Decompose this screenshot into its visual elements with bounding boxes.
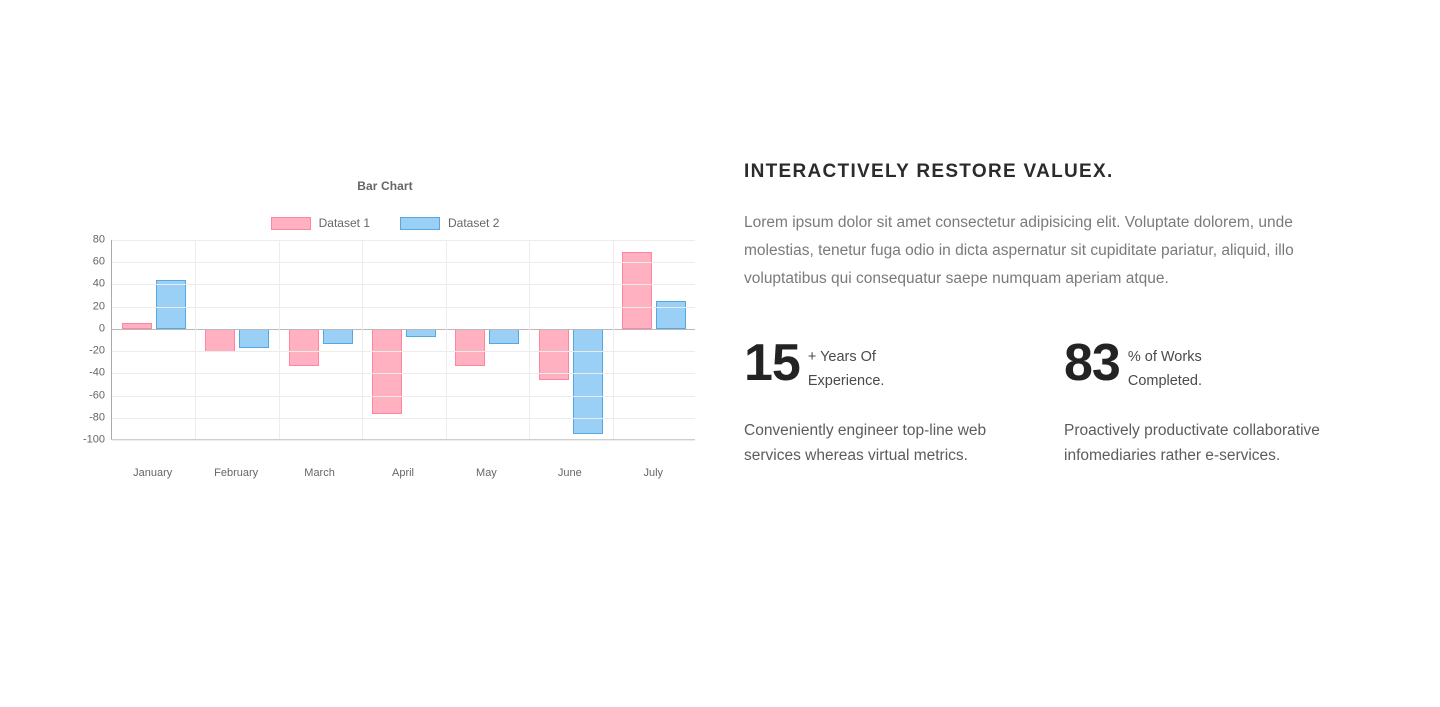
plot-area — [111, 240, 695, 440]
y-axis-tick-label: -20 — [89, 346, 105, 357]
y-axis-tick-label: -100 — [83, 435, 105, 446]
x-axis-tick-label: May — [476, 467, 497, 479]
bar-chart-panel: Bar Chart Dataset 1Dataset 2 806040200-2… — [75, 178, 695, 488]
bars-layer — [112, 240, 695, 439]
page-title: INTERACTIVELY RESTORE VALUEX. — [744, 158, 1384, 186]
gridline — [112, 396, 695, 397]
bar-february-dataset-1[interactable] — [205, 329, 235, 352]
gridline — [112, 351, 695, 352]
bar-june-dataset-1[interactable] — [539, 329, 569, 380]
y-axis-tick-label: 80 — [93, 235, 105, 246]
gridline — [112, 440, 695, 441]
chart-plot-wrapper: 806040200-20-40-60-80-100 JanuaryFebruar… — [75, 240, 695, 472]
y-axis-tick-label: -80 — [89, 412, 105, 423]
x-axis-tick-label: June — [558, 467, 582, 479]
stat-heading: 15+ Years Of Experience. — [744, 336, 1064, 393]
bar-may-dataset-2[interactable] — [489, 329, 519, 345]
page-root: Bar Chart Dataset 1Dataset 2 806040200-2… — [0, 0, 1440, 707]
stat-block-2: 83% of Works Completed.Proactively produ… — [1064, 336, 1384, 468]
x-axis: JanuaryFebruaryMarchAprilMayJuneJuly — [111, 445, 695, 469]
stats-row: 15+ Years Of Experience.Conveniently eng… — [744, 336, 1384, 468]
bar-april-dataset-1[interactable] — [372, 329, 402, 415]
y-axis-tick-label: 0 — [99, 323, 105, 334]
legend-swatch-icon — [400, 217, 440, 230]
y-axis-tick-label: 20 — [93, 301, 105, 312]
bar-july-dataset-2[interactable] — [656, 301, 686, 329]
legend-swatch-icon — [271, 217, 311, 230]
legend-item-2[interactable]: Dataset 2 — [400, 216, 499, 230]
gridline — [112, 262, 695, 263]
chart-title: Bar Chart — [75, 178, 695, 194]
bar-april-dataset-2[interactable] — [406, 329, 436, 337]
vertical-gridline — [446, 240, 447, 439]
vertical-gridline — [529, 240, 530, 439]
gridline — [112, 284, 695, 285]
y-axis-tick-label: 60 — [93, 257, 105, 268]
stat-description: Conveniently engineer top-line web servi… — [744, 418, 1064, 468]
vertical-gridline — [362, 240, 363, 439]
x-axis-tick-label: February — [214, 467, 258, 479]
chart-legend: Dataset 1Dataset 2 — [75, 215, 695, 231]
stat-heading: 83% of Works Completed. — [1064, 336, 1384, 393]
stat-number: 83 — [1064, 336, 1120, 390]
zero-baseline — [112, 329, 695, 330]
stat-caption: + Years Of Experience. — [808, 336, 885, 393]
vertical-gridline — [195, 240, 196, 439]
stat-number: 15 — [744, 336, 800, 390]
y-axis-tick-label: -60 — [89, 390, 105, 401]
vertical-gridline — [279, 240, 280, 439]
bar-january-dataset-2[interactable] — [156, 280, 186, 329]
x-axis-tick-label: January — [133, 467, 172, 479]
intro-paragraph: Lorem ipsum dolor sit amet consectetur a… — [744, 209, 1364, 293]
x-axis-tick-label: July — [644, 467, 664, 479]
y-axis-tick-label: 40 — [93, 279, 105, 290]
y-axis: 806040200-20-40-60-80-100 — [75, 240, 105, 440]
gridline — [112, 373, 695, 374]
stat-description: Proactively productivate collaborative i… — [1064, 418, 1384, 468]
legend-label: Dataset 1 — [319, 216, 370, 230]
gridline — [112, 240, 695, 241]
gridline — [112, 307, 695, 308]
legend-label: Dataset 2 — [448, 216, 499, 230]
bar-july-dataset-1[interactable] — [622, 252, 652, 329]
bar-march-dataset-2[interactable] — [323, 329, 353, 345]
gridline — [112, 418, 695, 419]
y-axis-tick-label: -40 — [89, 368, 105, 379]
legend-item-1[interactable]: Dataset 1 — [271, 216, 370, 230]
x-axis-tick-label: April — [392, 467, 414, 479]
bar-february-dataset-2[interactable] — [239, 329, 269, 348]
bar-may-dataset-1[interactable] — [455, 329, 485, 366]
stat-block-1: 15+ Years Of Experience.Conveniently eng… — [744, 336, 1064, 468]
bar-march-dataset-1[interactable] — [289, 329, 319, 366]
stat-caption: % of Works Completed. — [1128, 336, 1202, 393]
content-panel: INTERACTIVELY RESTORE VALUEX. Lorem ipsu… — [744, 158, 1384, 468]
vertical-gridline — [613, 240, 614, 439]
x-axis-tick-label: March — [304, 467, 335, 479]
